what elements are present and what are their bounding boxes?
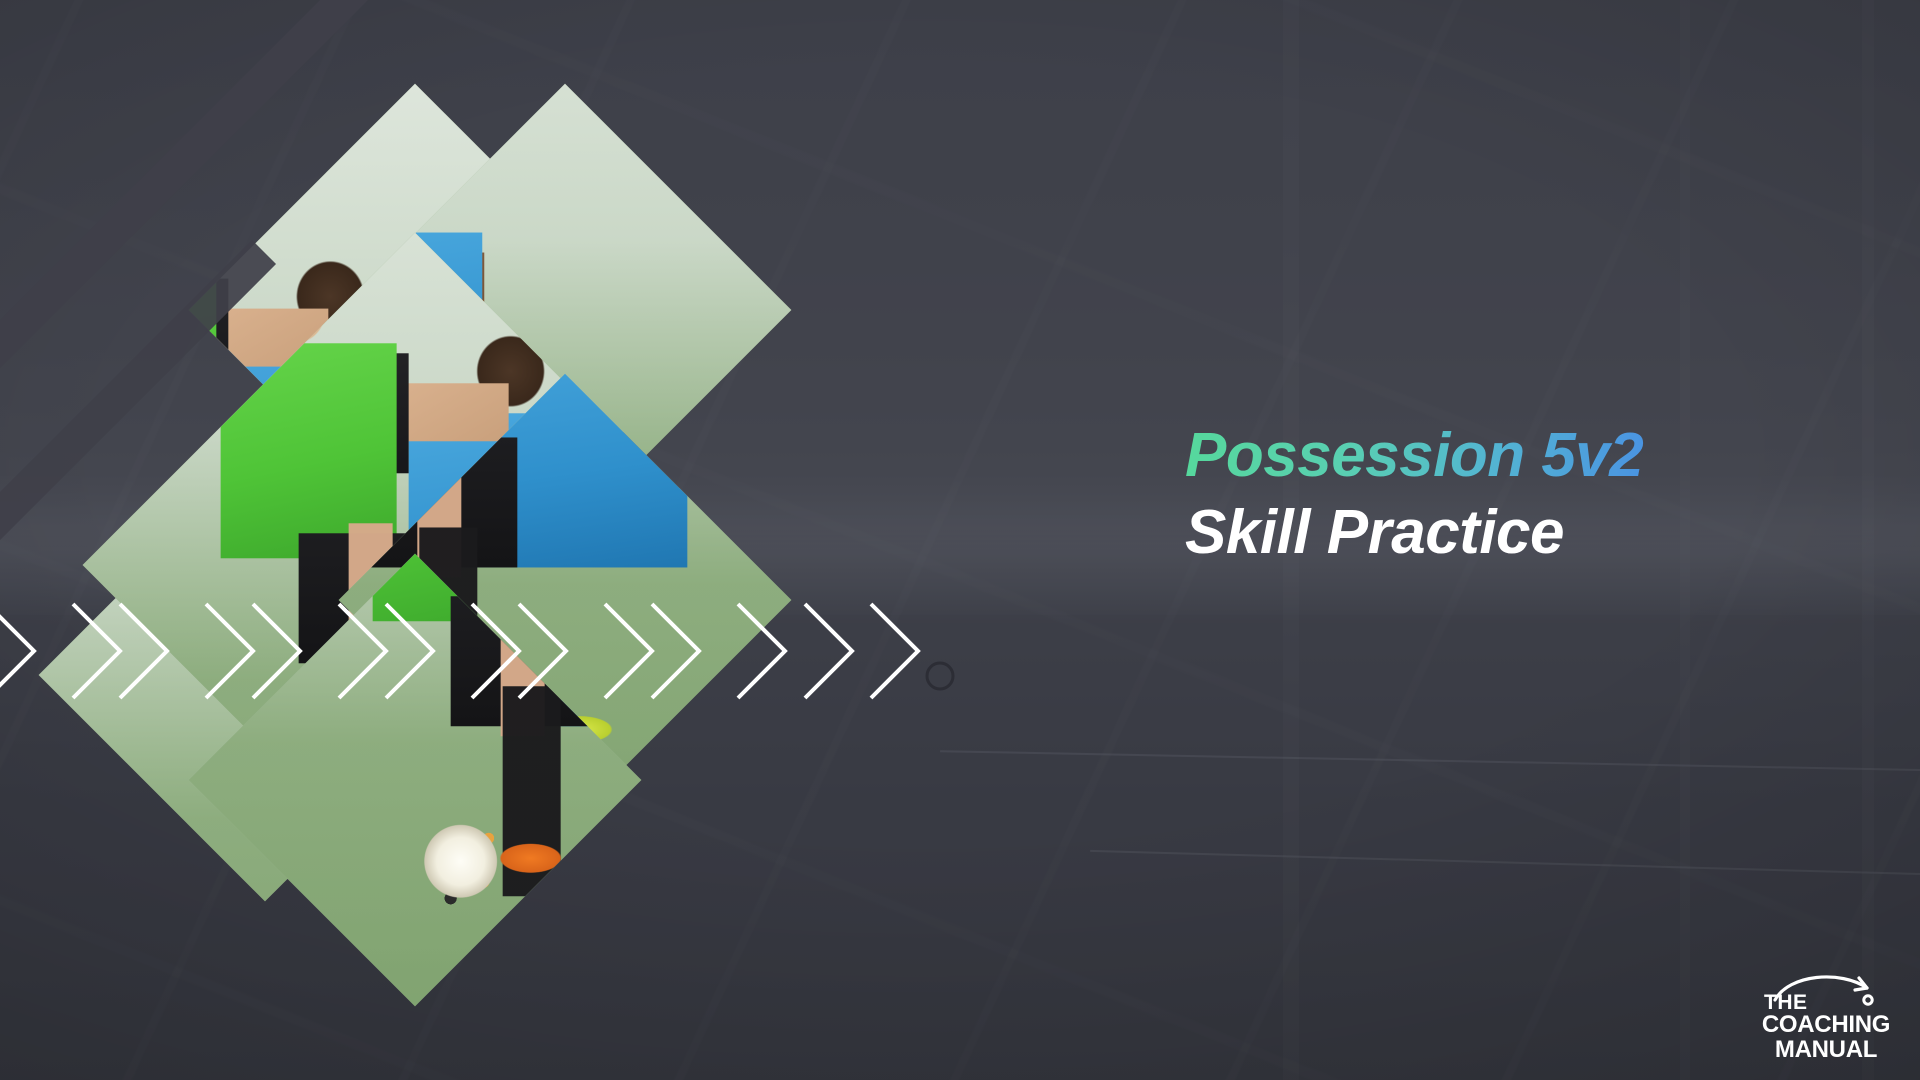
title-block: Possession 5v2 Skill Practice (1185, 424, 1825, 564)
chevron-right-icon (0, 604, 34, 698)
chevron-right-icon (738, 604, 785, 698)
logo-line-manual: MANUAL (1760, 1038, 1892, 1062)
chevron-right-icon (605, 604, 652, 698)
circle-outline-icon (927, 663, 953, 689)
page-title: Possession 5v2 (1185, 424, 1825, 487)
chevron-right-icon (206, 604, 253, 698)
chevron-right-icon (386, 604, 433, 698)
chevron-right-icon (73, 604, 120, 698)
photo-collage (0, 0, 960, 1080)
brand-logo: THE COACHING MANUAL (1760, 970, 1892, 1062)
chevron-row (0, 596, 960, 706)
chevron-right-icon (652, 604, 699, 698)
chevron-right-icon (339, 604, 386, 698)
page-subtitle: Skill Practice (1185, 501, 1825, 564)
chevron-right-icon (805, 604, 852, 698)
chevron-right-icon (519, 604, 566, 698)
chevron-right-icon (472, 604, 519, 698)
chevron-right-icon (253, 604, 300, 698)
chevron-right-icon (871, 604, 918, 698)
presentation-slide: Possession 5v2 Skill Practice THE COACHI… (0, 0, 1920, 1080)
chevron-right-icon (120, 604, 167, 698)
chevron-strip (0, 596, 960, 706)
logo-line-coaching: COACHING (1760, 1013, 1892, 1037)
